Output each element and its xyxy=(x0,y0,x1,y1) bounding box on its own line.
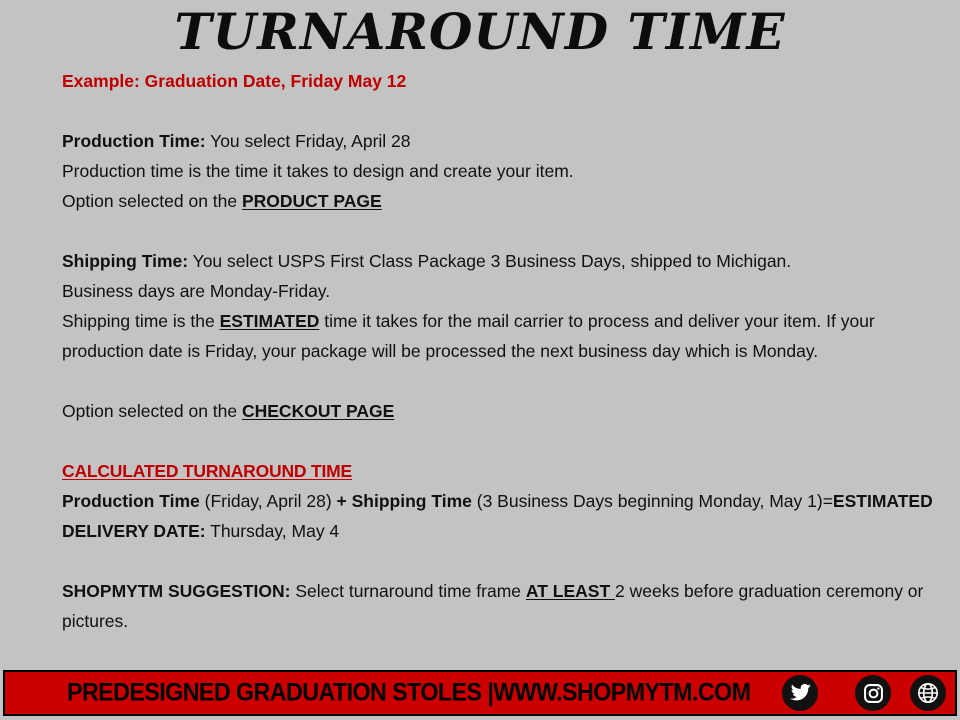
calculated-delivery-value: Thursday, May 4 xyxy=(206,521,340,541)
page-title: TURNAROUND TIME xyxy=(0,2,960,62)
production-line-1: Production Time: You select Friday, Apri… xyxy=(62,126,940,156)
production-label: Production Time: xyxy=(62,131,206,151)
website-globe-icon[interactable] xyxy=(910,675,946,711)
twitter-icon[interactable] xyxy=(782,675,818,711)
shipping-paragraph: Shipping Time: You select USPS First Cla… xyxy=(62,246,940,366)
calculated-formula: Production Time (Friday, April 28) + Shi… xyxy=(62,491,933,541)
checkout-paragraph: Option selected on the CHECKOUT PAGE xyxy=(62,396,940,426)
slide-canvas: TURNAROUND TIME Example: Graduation Date… xyxy=(0,0,960,720)
spacer xyxy=(62,96,940,126)
production-line-2: Production time is the time it takes to … xyxy=(62,156,940,186)
production-line-3: Option selected on the PRODUCT PAGE xyxy=(62,186,940,216)
production-paragraph: Production Time: You select Friday, Apri… xyxy=(62,126,940,216)
shipping-line-3-prefix: Shipping time is the xyxy=(62,311,220,331)
product-page-emphasis: PRODUCT PAGE xyxy=(242,191,382,211)
spacer xyxy=(62,546,940,576)
shipping-line-2: Business days are Monday-Friday. xyxy=(62,276,940,306)
calculated-heading: CALCULATED TURNAROUND TIME xyxy=(62,456,940,486)
suggestion-paragraph: SHOPMYTM SUGGESTION: Select turnaround t… xyxy=(62,576,940,636)
checkout-prefix: Option selected on the xyxy=(62,401,242,421)
calculated-shipping-label: + Shipping Time xyxy=(337,491,472,511)
production-line-1-rest: You select Friday, April 28 xyxy=(206,131,411,151)
production-line-3-prefix: Option selected on the xyxy=(62,191,242,211)
calculated-paragraph: CALCULATED TURNAROUND TIME Production Ti… xyxy=(62,456,940,546)
calculated-heading-text: CALCULATED TURNAROUND TIME xyxy=(62,461,352,481)
at-least-emphasis: AT LEAST xyxy=(526,581,615,601)
shipping-label: Shipping Time: xyxy=(62,251,188,271)
footer-website-text-inner: PREDESIGNED GRADUATION STOLES |WWW.SHOPM… xyxy=(67,679,750,708)
shipping-line-3: Shipping time is the ESTIMATED time it t… xyxy=(62,311,875,361)
spacer xyxy=(62,216,940,246)
shipping-line-1-rest: You select USPS First Class Package 3 Bu… xyxy=(188,251,791,271)
checkout-page-emphasis: CHECKOUT PAGE xyxy=(242,401,394,421)
example-line: Example: Graduation Date, Friday May 12 xyxy=(62,66,940,96)
spacer xyxy=(62,426,940,456)
calculated-production-label: Production Time xyxy=(62,491,200,511)
footer-website-text: PREDESIGNED GRADUATION STOLES |WWW.SHOPM… xyxy=(67,679,802,708)
calculated-shipping-value: (3 Business Days beginning Monday, May 1… xyxy=(472,491,833,511)
suggestion-label: SHOPMYTM SUGGESTION: xyxy=(62,581,290,601)
instagram-icon[interactable] xyxy=(855,675,891,711)
spacer xyxy=(62,366,940,396)
suggestion-mid: Select turnaround time frame xyxy=(290,581,525,601)
calculated-production-value: (Friday, April 28) xyxy=(200,491,337,511)
estimated-emphasis: ESTIMATED xyxy=(220,311,320,331)
slide-body: Example: Graduation Date, Friday May 12 … xyxy=(62,66,940,636)
footer-bar: PREDESIGNED GRADUATION STOLES |WWW.SHOPM… xyxy=(3,670,957,716)
shipping-line-1: Shipping Time: You select USPS First Cla… xyxy=(62,246,940,276)
